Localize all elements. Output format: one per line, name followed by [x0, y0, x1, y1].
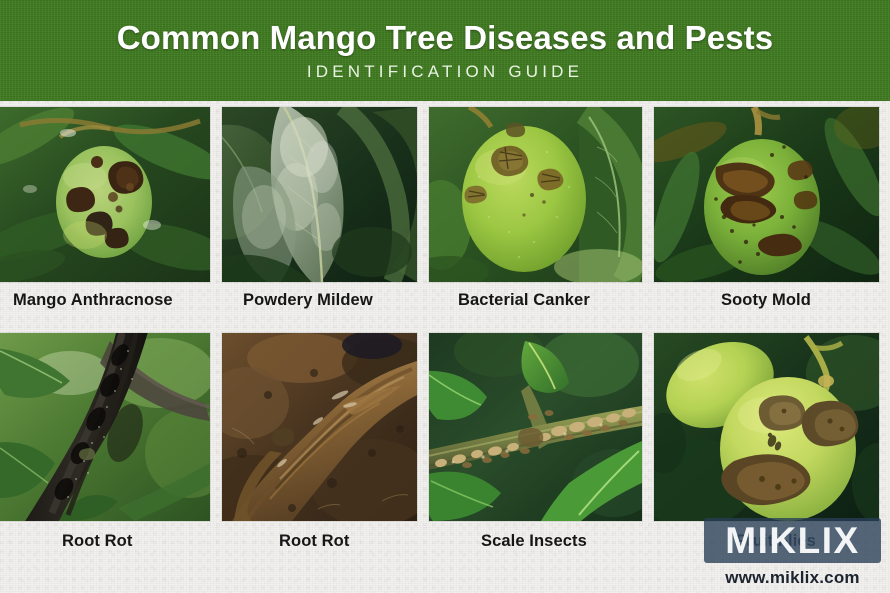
page-subtitle: IDENTIFICATION GUIDE: [307, 63, 583, 80]
bacterial-canker-photo: [429, 107, 642, 282]
grid-item-label-5: Root Rot: [62, 533, 132, 550]
grid-item-label-6: Root Rot: [279, 533, 349, 550]
grid-item-photo-3: [429, 107, 642, 282]
fruit-flies-photo: [654, 333, 879, 521]
root-rot-soil-photo: [222, 333, 417, 521]
grid-item-label-2: Powdery Mildew: [243, 292, 373, 309]
grid-item-photo-7: [429, 333, 642, 521]
watermark-url: www.miklix.com: [704, 567, 881, 589]
grid-item-label-1: Mango Anthracnose: [13, 292, 173, 309]
poster-header: Common Mango Tree Diseases and Pests IDE…: [0, 0, 890, 101]
watermark: MIKLIX www.miklix.com: [704, 518, 881, 590]
sooty-mold-photo: [654, 107, 879, 282]
grid-item-photo-6: [222, 333, 417, 521]
grid-item-label-3: Bacterial Canker: [458, 292, 590, 309]
scale-insects-photo: [429, 333, 642, 521]
grid-item-photo-5: [0, 333, 210, 521]
root-rot-branch-photo: [0, 333, 210, 521]
grid-item-photo-4: [654, 107, 879, 282]
grid-item-label-4: Sooty Mold: [721, 292, 811, 309]
grid-item-label-8: Fruit Flies: [736, 533, 816, 550]
mango-anthracnose-photo: [0, 107, 210, 282]
grid-item-label-7: Scale Insects: [481, 533, 587, 550]
grid-item-photo-2: [222, 107, 417, 282]
infographic-poster: Common Mango Tree Diseases and Pests IDE…: [0, 0, 890, 593]
grid-item-photo-8: [654, 333, 879, 521]
page-title: Common Mango Tree Diseases and Pests: [117, 21, 773, 54]
grid-item-photo-1: [0, 107, 210, 282]
powdery-mildew-photo: [222, 107, 417, 282]
